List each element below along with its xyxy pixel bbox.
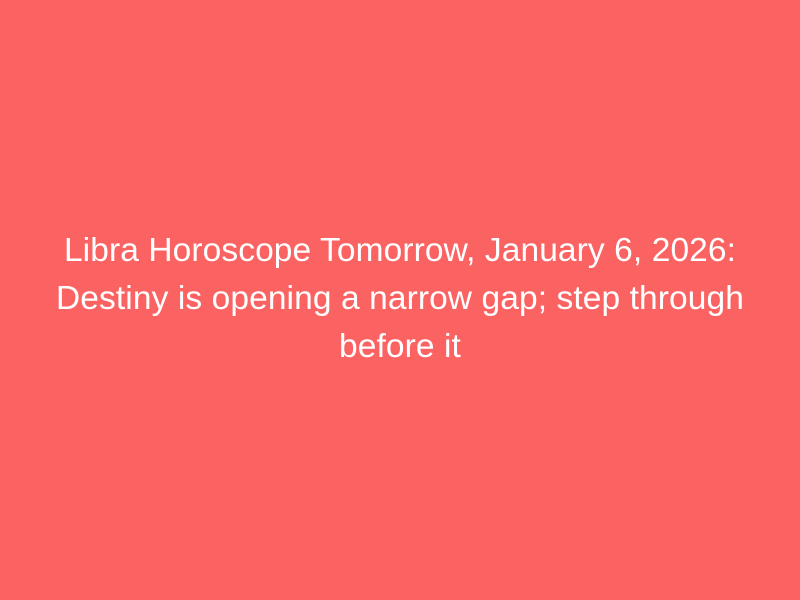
- share-card: Libra Horoscope Tomorrow, January 6, 202…: [0, 0, 800, 600]
- page-title: Libra Horoscope Tomorrow, January 6, 202…: [50, 227, 750, 371]
- headline-block: Libra Horoscope Tomorrow, January 6, 202…: [50, 227, 750, 371]
